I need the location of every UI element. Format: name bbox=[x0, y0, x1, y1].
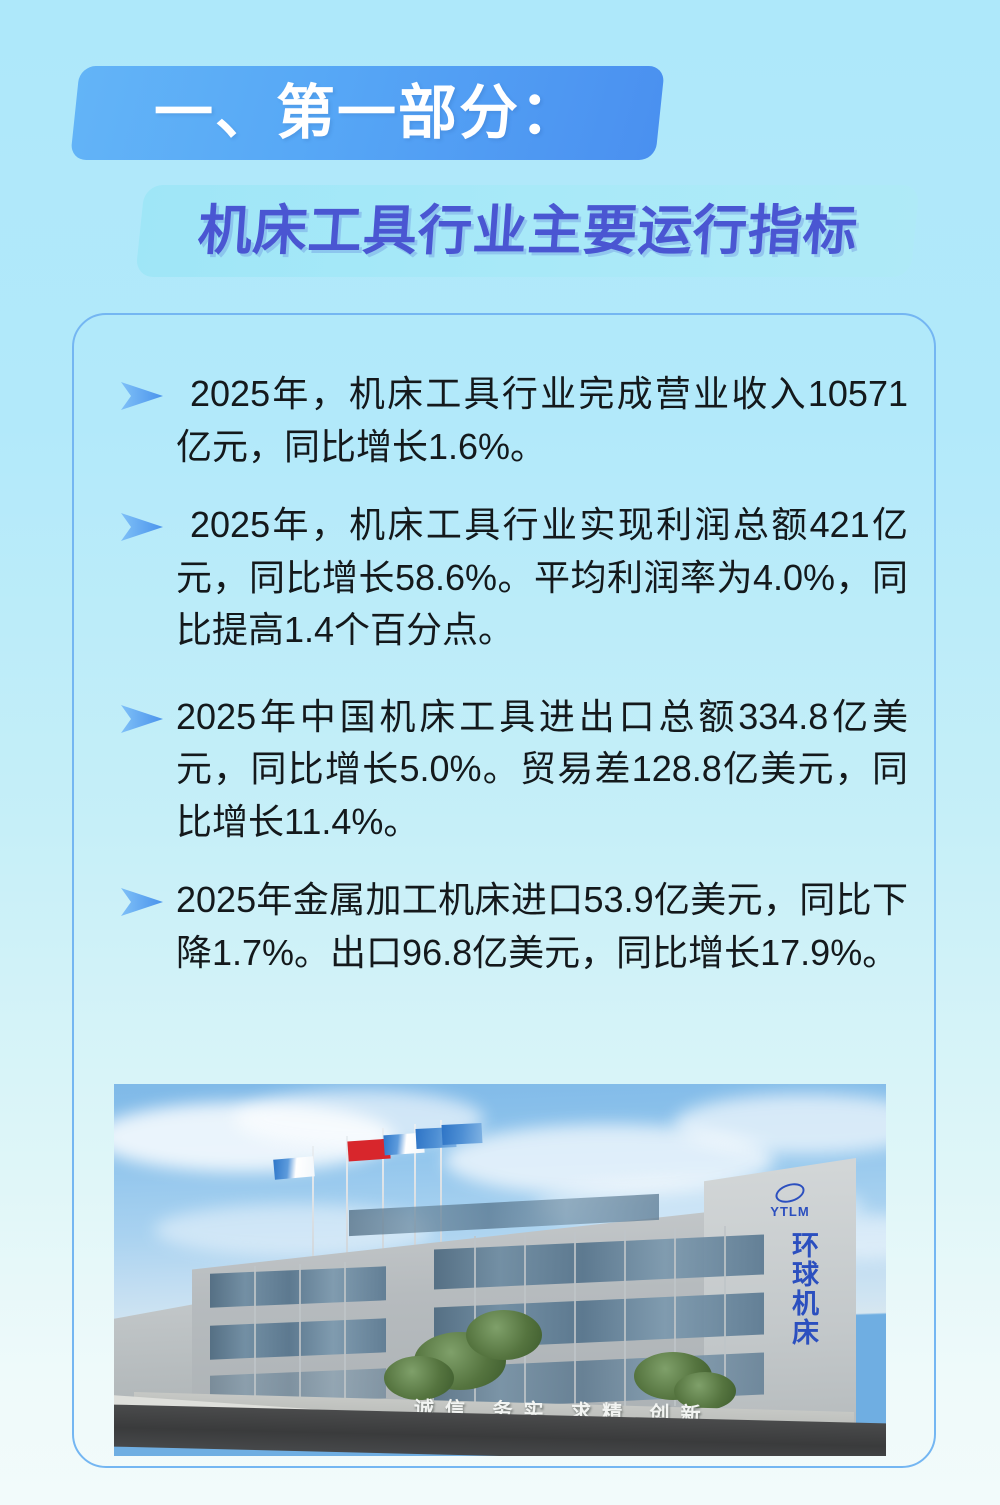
list-item-text: 2025年中国机床工具进出口总额334.8亿美元，同比增长5.0%。贸易差128… bbox=[176, 691, 908, 849]
photo-scene: YTLM 环球机床 诚信 务实 求精 创新 bbox=[114, 1084, 886, 1456]
list-item: 2025年金属加工机床进口53.9亿美元，同比下降1.7%。出口96.8亿美元，… bbox=[118, 874, 908, 979]
list-item: 2025年，机床工具行业完成营业收入10571亿元，同比增长1.6%。 bbox=[118, 368, 908, 473]
list-item: 2025年，机床工具行业实现利润总额421亿元，同比增长58.6%。平均利润率为… bbox=[118, 499, 908, 657]
window-mullion bbox=[624, 1230, 626, 1406]
pine-tree bbox=[466, 1310, 542, 1360]
company-name-sign: 环球机床 bbox=[762, 1224, 818, 1354]
primary-title-banner: 一、第一部分： bbox=[70, 66, 665, 160]
arrow-right-icon bbox=[118, 691, 176, 735]
arrow-right-icon bbox=[118, 874, 176, 918]
arrow-right-icon bbox=[118, 499, 176, 543]
corporate-flag bbox=[442, 1123, 483, 1145]
secondary-title-text: 机床工具行业主要运行指标 bbox=[196, 204, 860, 258]
window-mullion bbox=[574, 1232, 576, 1406]
company-logo: YTLM bbox=[759, 1184, 821, 1218]
list-item-text: 2025年，机床工具行业实现利润总额421亿元，同比增长58.6%。平均利润率为… bbox=[176, 499, 908, 657]
window-mullion bbox=[254, 1266, 256, 1406]
corporate-flag bbox=[273, 1156, 315, 1179]
window-mullion bbox=[344, 1262, 346, 1406]
window-mullion bbox=[299, 1264, 301, 1406]
primary-title-text: 一、第一部分： bbox=[154, 84, 581, 143]
arrow-right-icon bbox=[118, 368, 176, 412]
company-logo-text: YTLM bbox=[770, 1204, 809, 1219]
globe-icon bbox=[773, 1180, 807, 1206]
list-item: 2025年中国机床工具进出口总额334.8亿美元，同比增长5.0%。贸易差128… bbox=[118, 691, 908, 849]
list-item-text: 2025年金属加工机床进口53.9亿美元，同比下降1.7%。出口96.8亿美元，… bbox=[176, 874, 908, 979]
secondary-title-banner: 机床工具行业主要运行指标 bbox=[135, 185, 920, 277]
building-photo: YTLM 环球机床 诚信 务实 求精 创新 bbox=[114, 1084, 886, 1456]
list-item-text: 2025年，机床工具行业完成营业收入10571亿元，同比增长1.6%。 bbox=[176, 368, 908, 473]
key-indicators-list: 2025年，机床工具行业完成营业收入10571亿元，同比增长1.6%。 2025… bbox=[118, 368, 908, 1005]
